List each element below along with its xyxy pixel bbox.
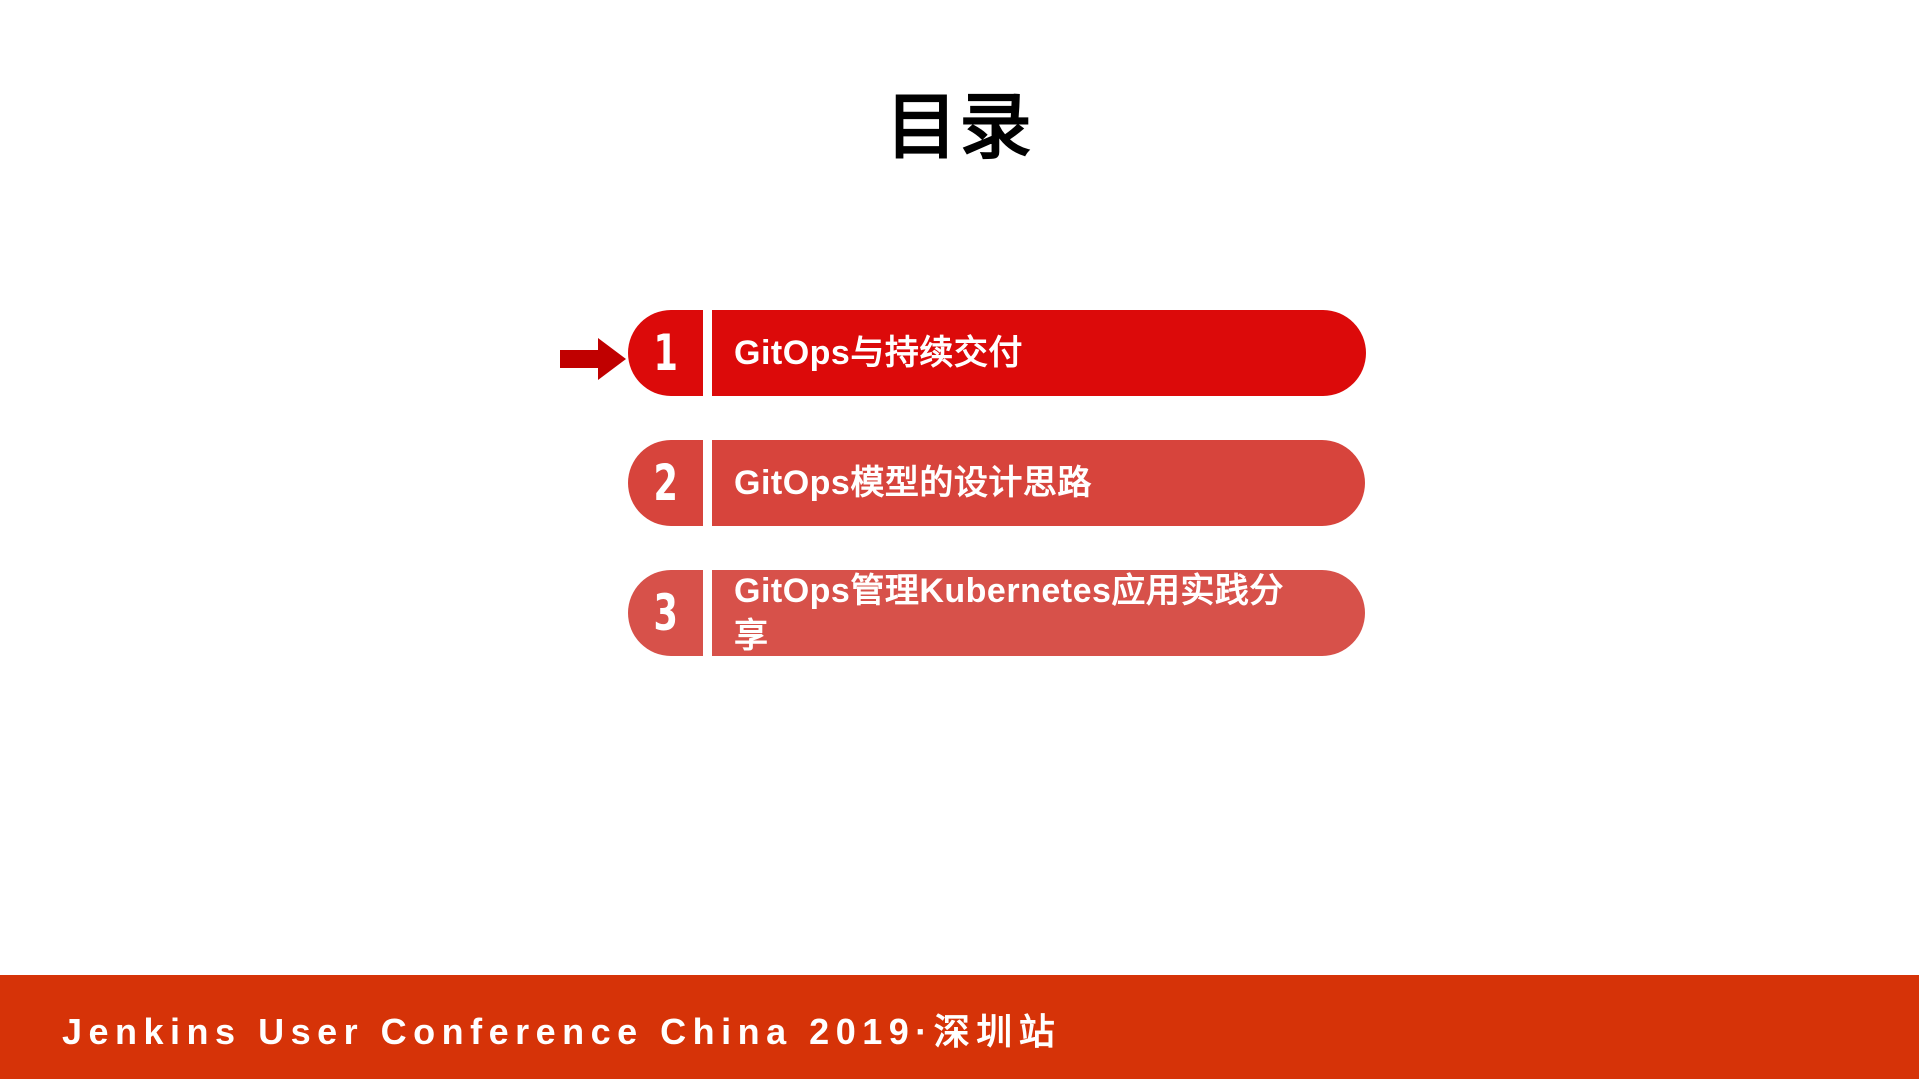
agenda-number-badge-3: 3 [628, 570, 703, 656]
agenda-label-2: GitOps模型的设计思路 [712, 461, 1118, 506]
agenda-label-3: GitOps管理Kubernetes应用实践分享 [712, 570, 1320, 656]
agenda-number-3: 3 [653, 588, 677, 638]
agenda-text-panel-3: GitOps管理Kubernetes应用实践分享 [712, 570, 1365, 656]
agenda-number-2: 2 [653, 458, 677, 508]
agenda-item-2[interactable]: 2 GitOps模型的设计思路 [0, 440, 1919, 526]
footer-bar: Jenkins User Conference China 2019·深圳站 [0, 975, 1919, 1079]
page-title: 目录 [0, 88, 1919, 169]
agenda-number-badge-2: 2 [628, 440, 703, 526]
agenda-item-3[interactable]: 3 GitOps管理Kubernetes应用实践分享 [0, 570, 1919, 656]
agenda-number-1: 1 [653, 328, 677, 378]
right-arrow-icon [560, 338, 626, 380]
agenda-text-panel-2: GitOps模型的设计思路 [712, 440, 1365, 526]
agenda-item-1[interactable]: 1 GitOps与持续交付 [0, 310, 1919, 396]
agenda-label-1: GitOps与持续交付 [712, 331, 1049, 376]
agenda-list: 1 GitOps与持续交付 2 GitOps模型的设计思路 3 GitOps管理… [0, 310, 1919, 710]
agenda-number-badge-1: 1 [628, 310, 703, 396]
slide-canvas: 目录 1 GitOps与持续交付 2 GitOps模型的设计思路 [0, 0, 1919, 1079]
agenda-text-panel-1: GitOps与持续交付 [712, 310, 1366, 396]
footer-conference-text: Jenkins User Conference China 2019·深圳站 [62, 1003, 1061, 1055]
